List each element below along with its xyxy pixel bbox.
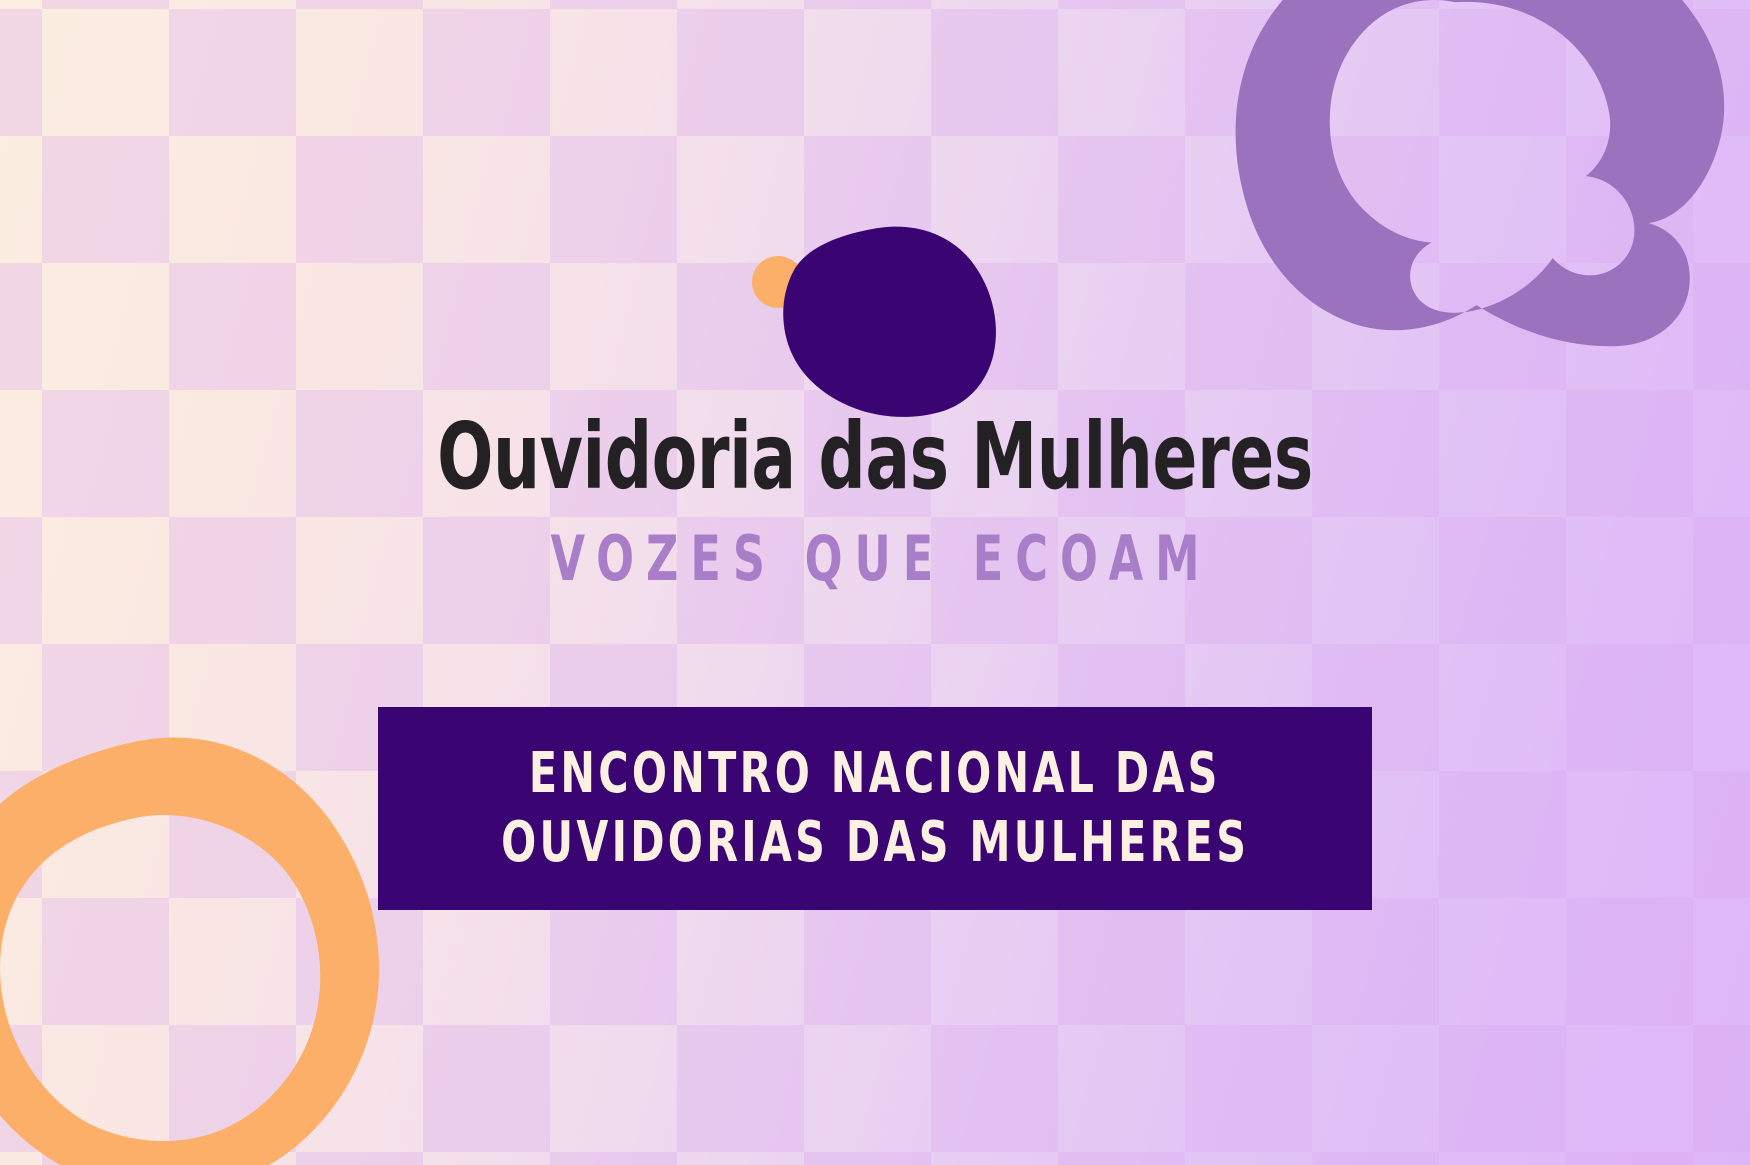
logo-ring-icon xyxy=(783,227,996,417)
page-subtitle: VOZES QUE ECOAM xyxy=(175,522,1575,595)
event-banner-line-2: OUVIDORIAS DAS MULHERES xyxy=(501,809,1249,877)
ring-bottom-left-decoration xyxy=(0,725,390,1165)
page-title: Ouvidoria das Mulheres xyxy=(175,410,1575,504)
event-banner-line-1: ENCONTRO NACIONAL DAS xyxy=(529,740,1221,808)
ring-top-right-decoration xyxy=(1155,0,1750,350)
poster-canvas: Ouvidoria das Mulheres VOZES QUE ECOAM E… xyxy=(0,0,1750,1165)
event-banner: ENCONTRO NACIONAL DAS OUVIDORIAS DAS MUL… xyxy=(378,707,1372,910)
headline-block: Ouvidoria das Mulheres VOZES QUE ECOAM xyxy=(0,410,1750,595)
ouvidoria-ring-logo xyxy=(700,218,1050,418)
